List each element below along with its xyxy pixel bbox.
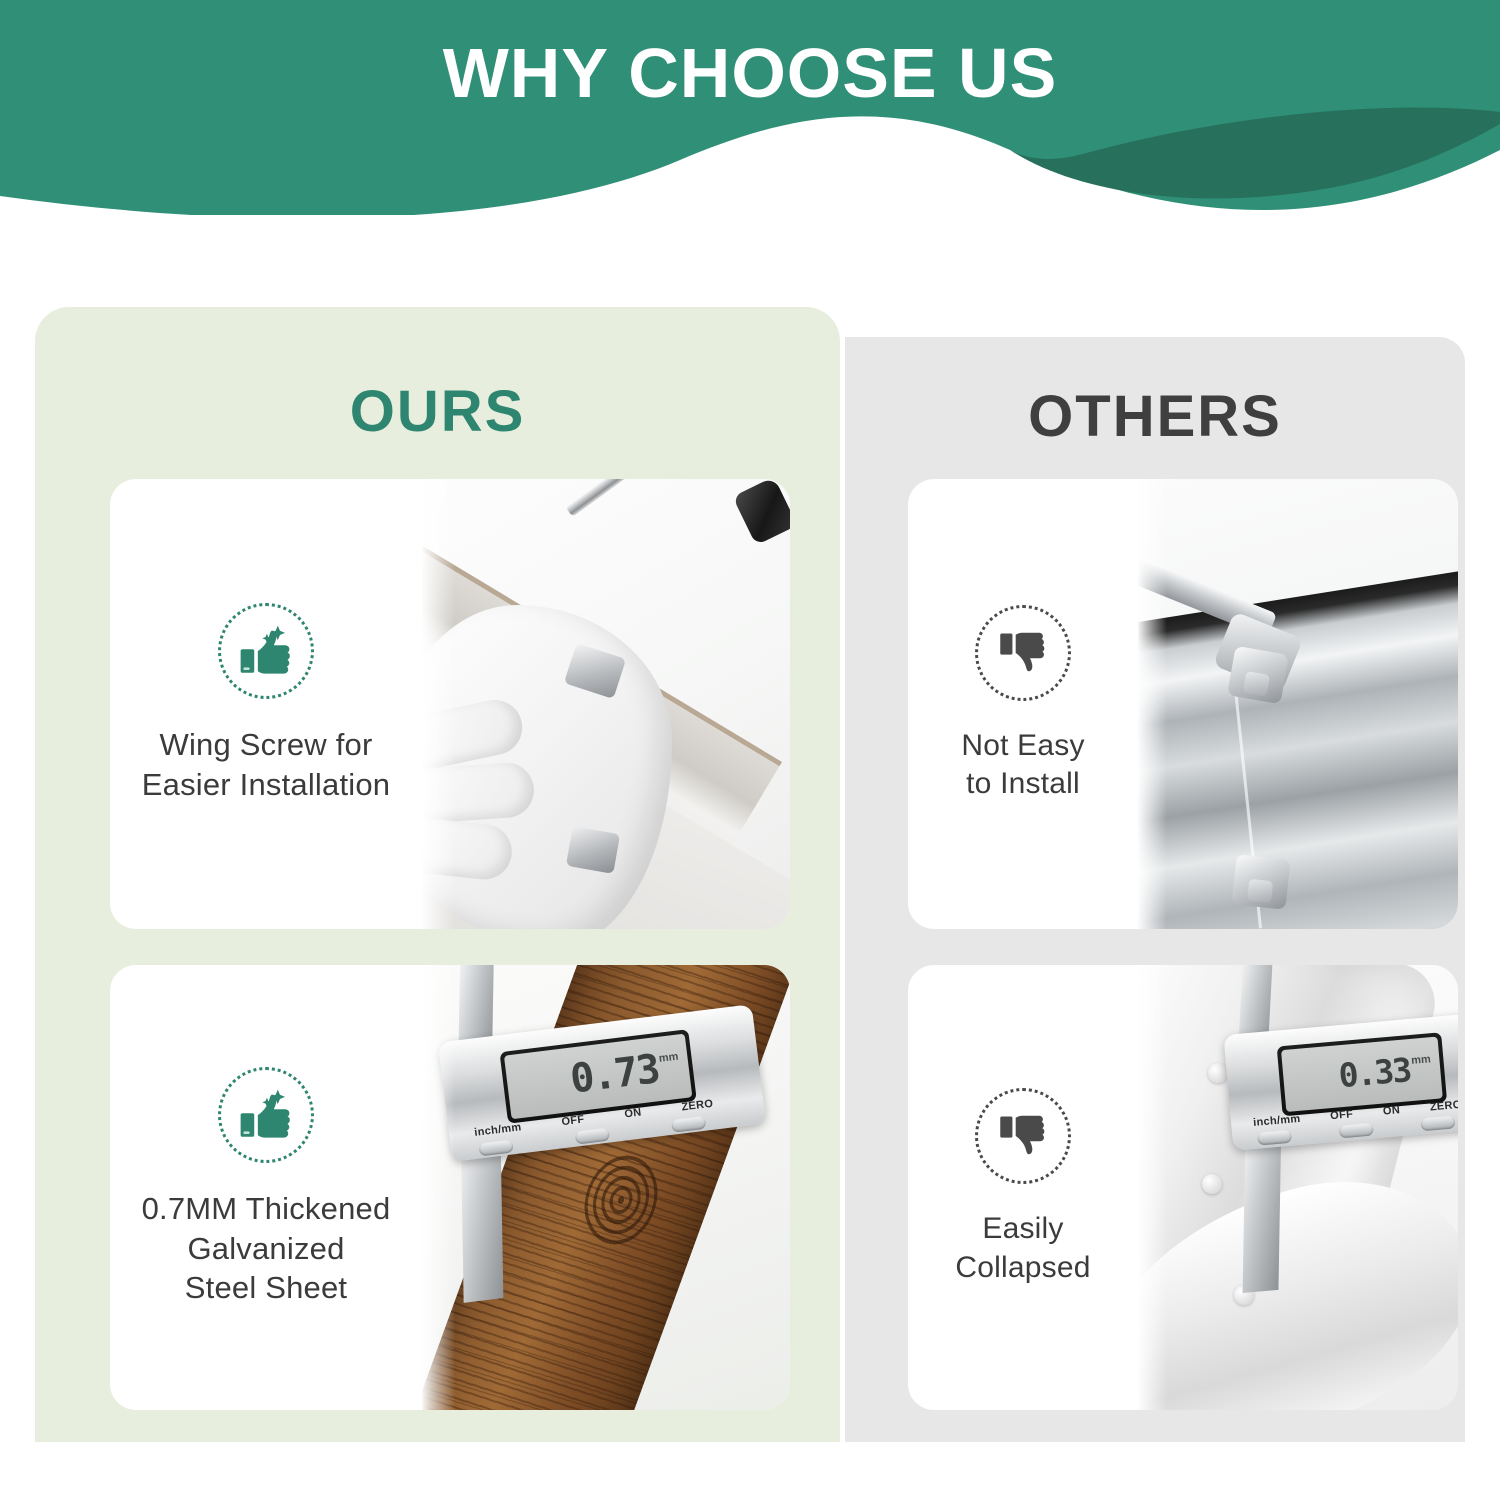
- caliper-label-zero: ZERO: [681, 1097, 714, 1113]
- caliper-label-off: OFF: [561, 1113, 585, 1128]
- feature-label: Wing Screw for Easier Installation: [142, 725, 391, 804]
- header-banner: WHY CHOOSE US: [0, 0, 1500, 215]
- feature-photo-wrench-bolts-duct: [1138, 479, 1458, 929]
- caliper-unit: mm: [658, 1050, 679, 1064]
- digital-caliper-others: 0.33 mm inch/mm OFF ON ZERO: [1223, 1011, 1458, 1150]
- caliper-button: [1420, 1116, 1455, 1132]
- caliper-button: [575, 1127, 610, 1144]
- thumbs-down-icon: [975, 1088, 1071, 1184]
- column-heading-ours: OURS: [35, 383, 840, 441]
- caliper-button: [671, 1115, 706, 1132]
- thumbs-down-icon: [975, 605, 1071, 701]
- feature-photo-caliper-wood-pipe: 0.73 mm inch/mm OFF ON ZERO: [422, 965, 790, 1410]
- caliper-button: [1256, 1130, 1291, 1146]
- column-heading-others: OTHERS: [845, 388, 1465, 446]
- caliper-label-on: ON: [624, 1106, 642, 1120]
- feature-card-others-hard-install[interactable]: Not Easy to Install: [908, 479, 1458, 929]
- card-text-side: Wing Screw for Easier Installation: [110, 479, 422, 929]
- thumbs-up-sparkle-icon: [218, 1067, 314, 1163]
- feature-photo-gloved-hand-wing-screw: [422, 479, 790, 929]
- caliper-button: [479, 1139, 514, 1156]
- caliper-label-off: OFF: [1329, 1108, 1353, 1122]
- feature-photo-caliper-collapsed-duct: 0.33 mm inch/mm OFF ON ZERO: [1138, 965, 1458, 1410]
- caliper-label-zero: ZERO: [1429, 1099, 1458, 1114]
- caliper-label-inch-mm: inch/mm: [474, 1121, 522, 1139]
- feature-card-ours-wing-screw[interactable]: Wing Screw for Easier Installation: [110, 479, 790, 929]
- card-text-side: 0.7MM Thickened Galvanized Steel Sheet: [110, 965, 422, 1410]
- thumbs-up-sparkle-icon: [218, 603, 314, 699]
- feature-label: Not Easy to Install: [961, 727, 1084, 804]
- feature-label: 0.7MM Thickened Galvanized Steel Sheet: [142, 1189, 391, 1308]
- comparison-infographic: WHY CHOOSE US OURS Wing Screw for Easier…: [0, 0, 1500, 1500]
- feature-label: Easily Collapsed: [955, 1210, 1090, 1287]
- caliper-button: [1338, 1123, 1373, 1139]
- caliper-label-on: ON: [1382, 1104, 1400, 1117]
- card-text-side: Not Easy to Install: [908, 479, 1138, 929]
- feature-card-ours-steel-thickness[interactable]: 0.7MM Thickened Galvanized Steel Sheet 0…: [110, 965, 790, 1410]
- page-title: WHY CHOOSE US: [0, 38, 1500, 108]
- caliper-value: 0.73: [568, 1049, 661, 1099]
- card-text-side: Easily Collapsed: [908, 965, 1138, 1410]
- caliper-unit: mm: [1410, 1053, 1431, 1067]
- caliper-label-inch-mm: inch/mm: [1252, 1113, 1300, 1129]
- feature-card-others-collapsed[interactable]: Easily Collapsed 0.33 mm: [908, 965, 1458, 1410]
- caliper-value: 0.33: [1337, 1053, 1411, 1092]
